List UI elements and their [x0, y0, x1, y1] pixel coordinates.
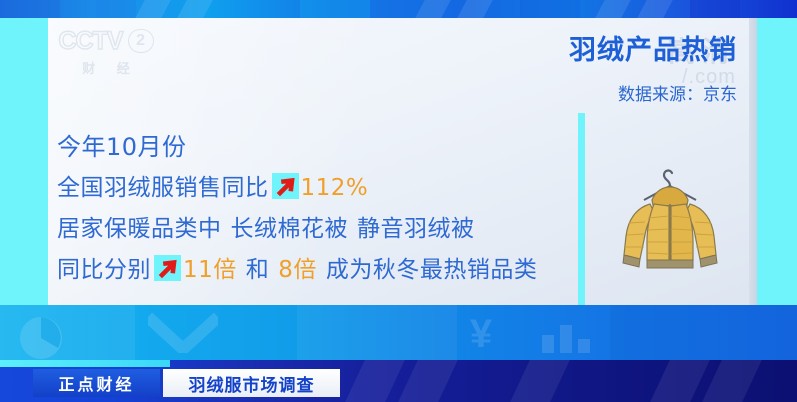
highlight-value: 8倍	[278, 257, 317, 283]
statistics-text-block: 今年10月份 全国羽绒服销售同比112% 居家保暖品类中长绒棉花被静音羽绒被 同…	[57, 127, 577, 291]
highlight-value: 11倍	[183, 257, 237, 283]
right-panel-edge	[749, 18, 757, 305]
ticker-program-label: 正点财经	[58, 371, 134, 395]
text-segment: 和	[246, 257, 270, 283]
headline-data-source: 数据来源：京东	[569, 80, 737, 105]
text-segment: 全国羽绒服销售同比	[57, 175, 269, 201]
ticker-cyan-accent	[0, 360, 170, 367]
cctv-channel-number: 2	[128, 29, 154, 53]
ticker-program-chip[interactable]: 正点财经	[33, 369, 160, 397]
text-segment: 同比分别	[57, 257, 151, 283]
cctv-wordmark: CCTV	[58, 27, 122, 56]
arrow-up-icon	[154, 255, 181, 281]
broadcast-screen: CCTV 2 财 经 高清 /.com 羽绒产品热销 数据来源：京东 今年10月…	[0, 0, 797, 402]
text-segment: 成为秋冬最热销品类	[326, 257, 538, 283]
text-segment: 静音羽绒被	[357, 216, 475, 242]
headline-block: 羽绒产品热销 数据来源：京东	[569, 28, 737, 105]
ticker-topic-chip[interactable]: 羽绒服市场调查	[163, 369, 340, 397]
arrow-up-icon	[272, 173, 299, 199]
right-cyan-band	[757, 18, 797, 305]
line-period: 今年10月份	[57, 127, 577, 168]
ticker-topic-label: 羽绒服市场调查	[189, 371, 315, 396]
cctv-channel-subtitle: 财 经	[52, 58, 160, 77]
text-segment: 今年10月份	[57, 133, 187, 161]
highlight-value: 112%	[301, 175, 369, 201]
down-jacket-illustration	[600, 160, 740, 285]
cctv2-channel-logo: CCTV 2 财 经	[52, 26, 160, 80]
pie-chart-motif	[18, 315, 64, 360]
text-segment: 居家保暖品类中	[57, 216, 222, 242]
text-segment: 长绒棉花被	[231, 216, 349, 242]
yen-symbol-motif: ¥	[460, 313, 502, 355]
cyan-vertical-divider	[578, 113, 585, 305]
line-growth-multiples: 同比分别11倍和8倍成为秋冬最热销品类	[57, 250, 577, 291]
left-cyan-band	[0, 18, 48, 305]
headline-title: 羽绒产品热销	[569, 28, 737, 67]
line-national-sales: 全国羽绒服销售同比112%	[57, 168, 577, 209]
chevron-motif	[148, 313, 218, 353]
line-home-warm-categories: 居家保暖品类中长绒棉花被静音羽绒被	[57, 209, 577, 250]
top-decorative-strip	[0, 0, 797, 18]
lower-decorative-band: ¥	[0, 305, 797, 360]
bar-chart-motif	[540, 319, 596, 353]
svg-text:¥: ¥	[470, 313, 493, 355]
